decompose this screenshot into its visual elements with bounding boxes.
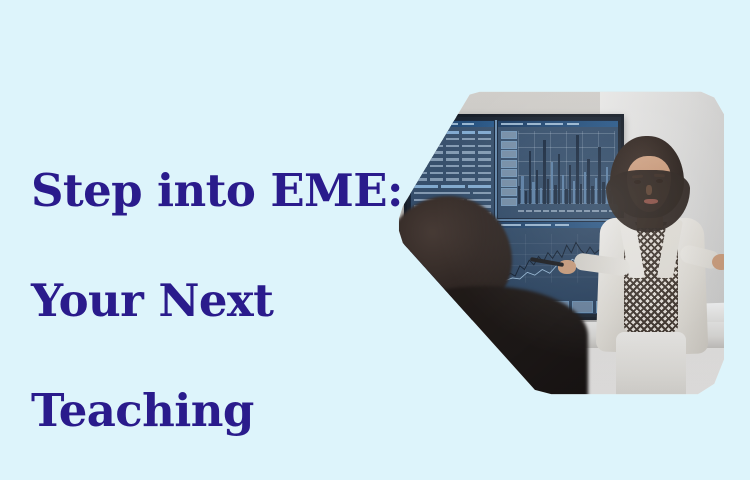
chart-legend-buttons (501, 131, 517, 206)
headline-line-3: Teaching (31, 383, 391, 438)
headline-line-1: Step into EME: (31, 163, 391, 218)
presentation-photo (398, 90, 724, 396)
eye-right (656, 179, 663, 183)
table-row (414, 137, 491, 142)
mouth (644, 199, 658, 204)
table-row (414, 150, 491, 155)
photo-canvas (398, 90, 724, 396)
hand-gesturing (712, 254, 724, 270)
table-row (414, 177, 491, 182)
table-row (414, 164, 491, 169)
listener-body-silhouette (398, 286, 588, 396)
trousers (616, 332, 686, 396)
table-row (414, 191, 491, 196)
panel-titlebar (411, 121, 494, 127)
table-row (414, 184, 491, 189)
eye-left (634, 180, 641, 184)
headline-line-2: Your Next (31, 273, 391, 328)
table-row (414, 144, 491, 149)
presenter-figure (580, 136, 720, 396)
nose (646, 185, 652, 195)
panel-titlebar (498, 121, 618, 127)
table-row (414, 130, 491, 135)
promo-banner: Step into EME: Your Next Teaching Advent… (0, 0, 750, 480)
page-title: Step into EME: Your Next Teaching Advent… (31, 108, 391, 480)
table-row (414, 171, 491, 176)
table-row (414, 157, 491, 162)
